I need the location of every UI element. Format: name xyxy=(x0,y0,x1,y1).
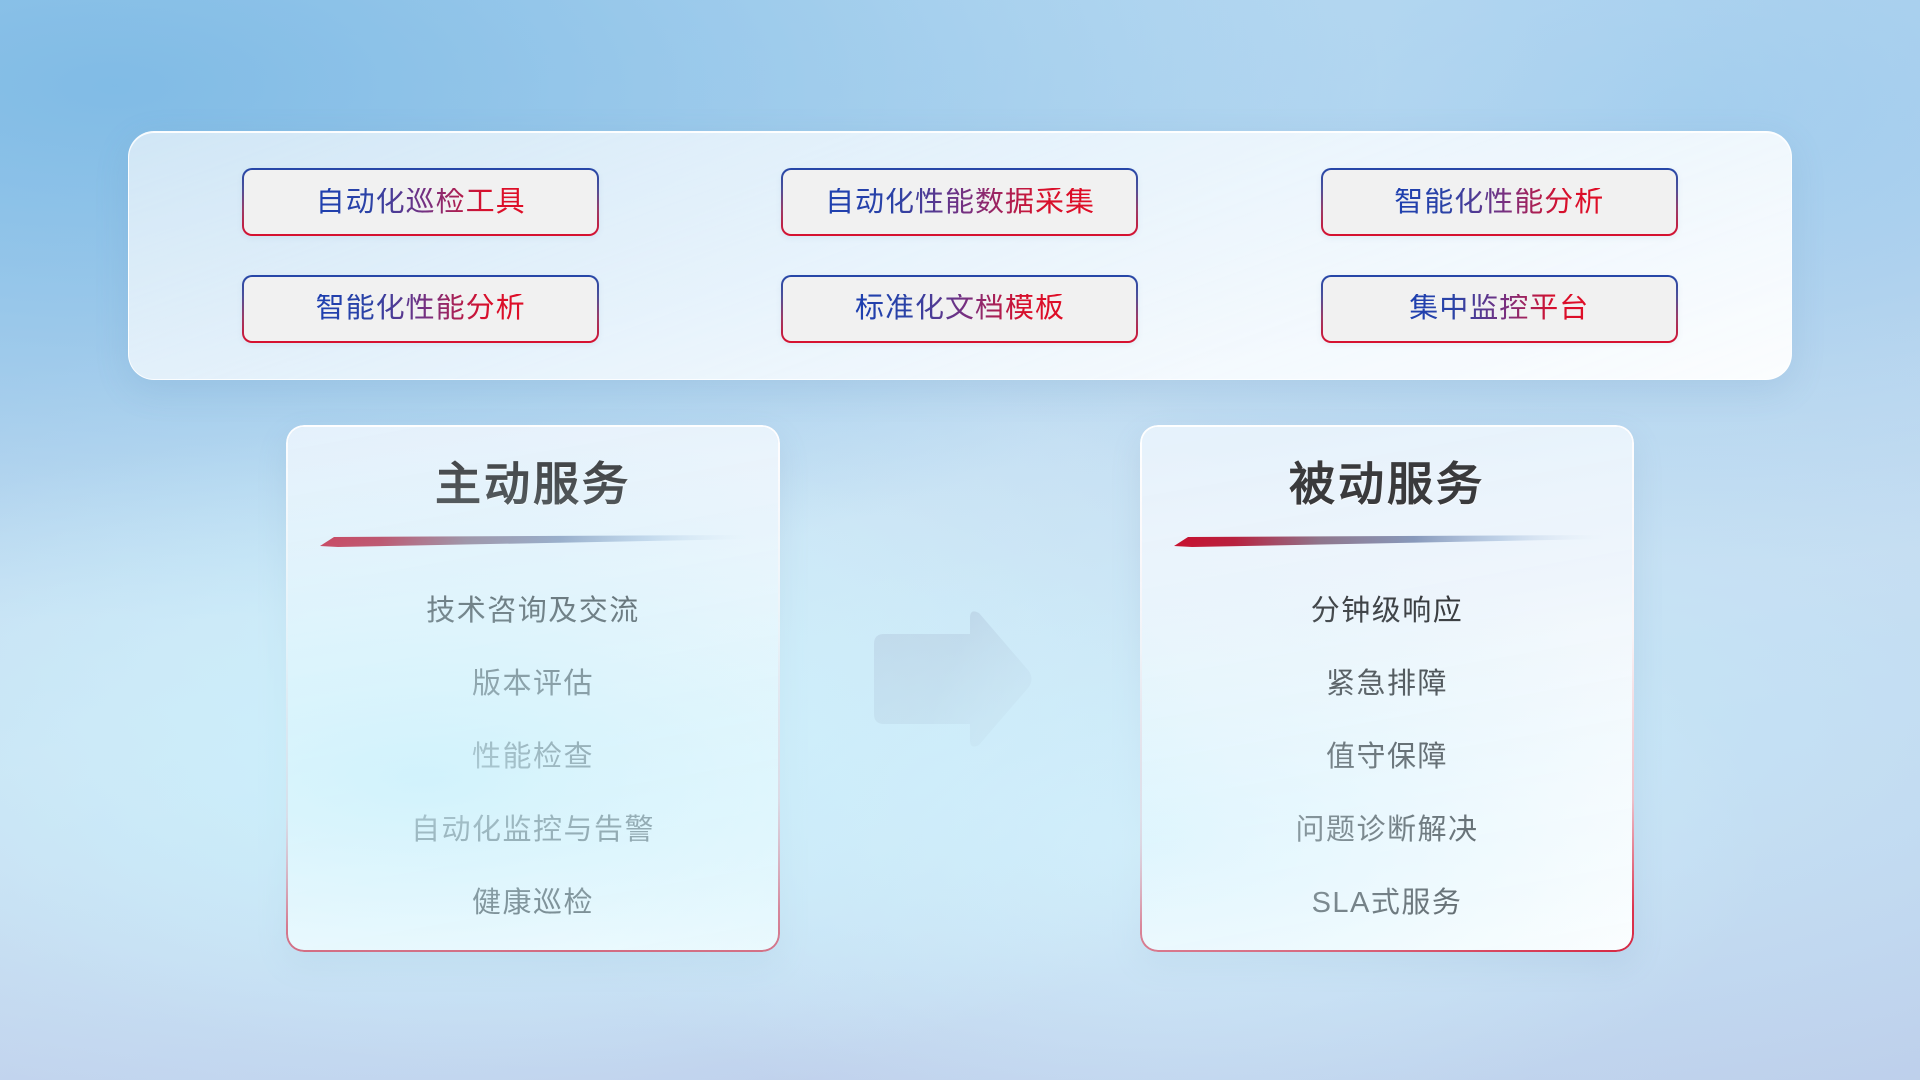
capability-pill-1[interactable]: 自动化巡检工具 xyxy=(242,168,599,236)
list-item[interactable]: 健康巡检 xyxy=(472,867,594,940)
list-item[interactable]: SLA式服务 xyxy=(1312,867,1463,940)
reactive-service-card: 被动服务 分钟级响应 紧急排障 值守保障 问题诊断解决 SLA式服务 xyxy=(1140,425,1634,952)
capabilities-panel: 自动化巡检工具 自动化性能数据采集 智能化性能分析 智能化性能分析 标准化文档模… xyxy=(128,131,1792,380)
title-underline-decoration xyxy=(320,535,750,547)
capability-pill-label: 自动化性能数据采集 xyxy=(825,188,1095,217)
list-item[interactable]: 值守保障 xyxy=(1326,721,1448,794)
capability-pill-5[interactable]: 标准化文档模板 xyxy=(781,275,1138,343)
capability-pill-label: 自动化巡检工具 xyxy=(316,188,526,217)
capability-pill-6[interactable]: 集中监控平台 xyxy=(1321,275,1678,343)
slide-canvas: 自动化巡检工具 自动化性能数据采集 智能化性能分析 智能化性能分析 标准化文档模… xyxy=(0,0,1920,1080)
capability-pill-label: 集中监控平台 xyxy=(1409,294,1589,323)
list-item[interactable]: 紧急排障 xyxy=(1326,648,1448,721)
capability-pill-4[interactable]: 智能化性能分析 xyxy=(242,275,599,343)
capability-pill-2[interactable]: 自动化性能数据采集 xyxy=(781,168,1138,236)
arrow-right-icon xyxy=(866,608,1034,750)
flow-arrow xyxy=(866,608,1034,750)
title-underline-decoration xyxy=(1174,535,1604,547)
proactive-service-card: 主动服务 技术咨询及交流 版本评估 性能检查 自动化监控与告警 健康巡检 xyxy=(286,425,780,952)
list-item[interactable]: 版本评估 xyxy=(472,648,594,721)
capability-pill-label: 智能化性能分析 xyxy=(316,294,526,323)
list-item[interactable]: 自动化监控与告警 xyxy=(411,794,655,867)
list-item[interactable]: 问题诊断解决 xyxy=(1295,794,1478,867)
reactive-service-list: 分钟级响应 紧急排障 值守保障 问题诊断解决 SLA式服务 xyxy=(1142,575,1632,940)
capability-pill-label: 标准化文档模板 xyxy=(855,294,1065,323)
card-title: 被动服务 xyxy=(1142,461,1632,507)
list-item[interactable]: 性能检查 xyxy=(472,721,594,794)
capability-pill-3[interactable]: 智能化性能分析 xyxy=(1321,168,1678,236)
capability-pill-label: 智能化性能分析 xyxy=(1394,188,1604,217)
card-title: 主动服务 xyxy=(288,461,778,507)
proactive-service-list: 技术咨询及交流 版本评估 性能检查 自动化监控与告警 健康巡检 xyxy=(288,575,778,940)
list-item[interactable]: 分钟级响应 xyxy=(1311,575,1464,648)
list-item[interactable]: 技术咨询及交流 xyxy=(426,575,640,648)
